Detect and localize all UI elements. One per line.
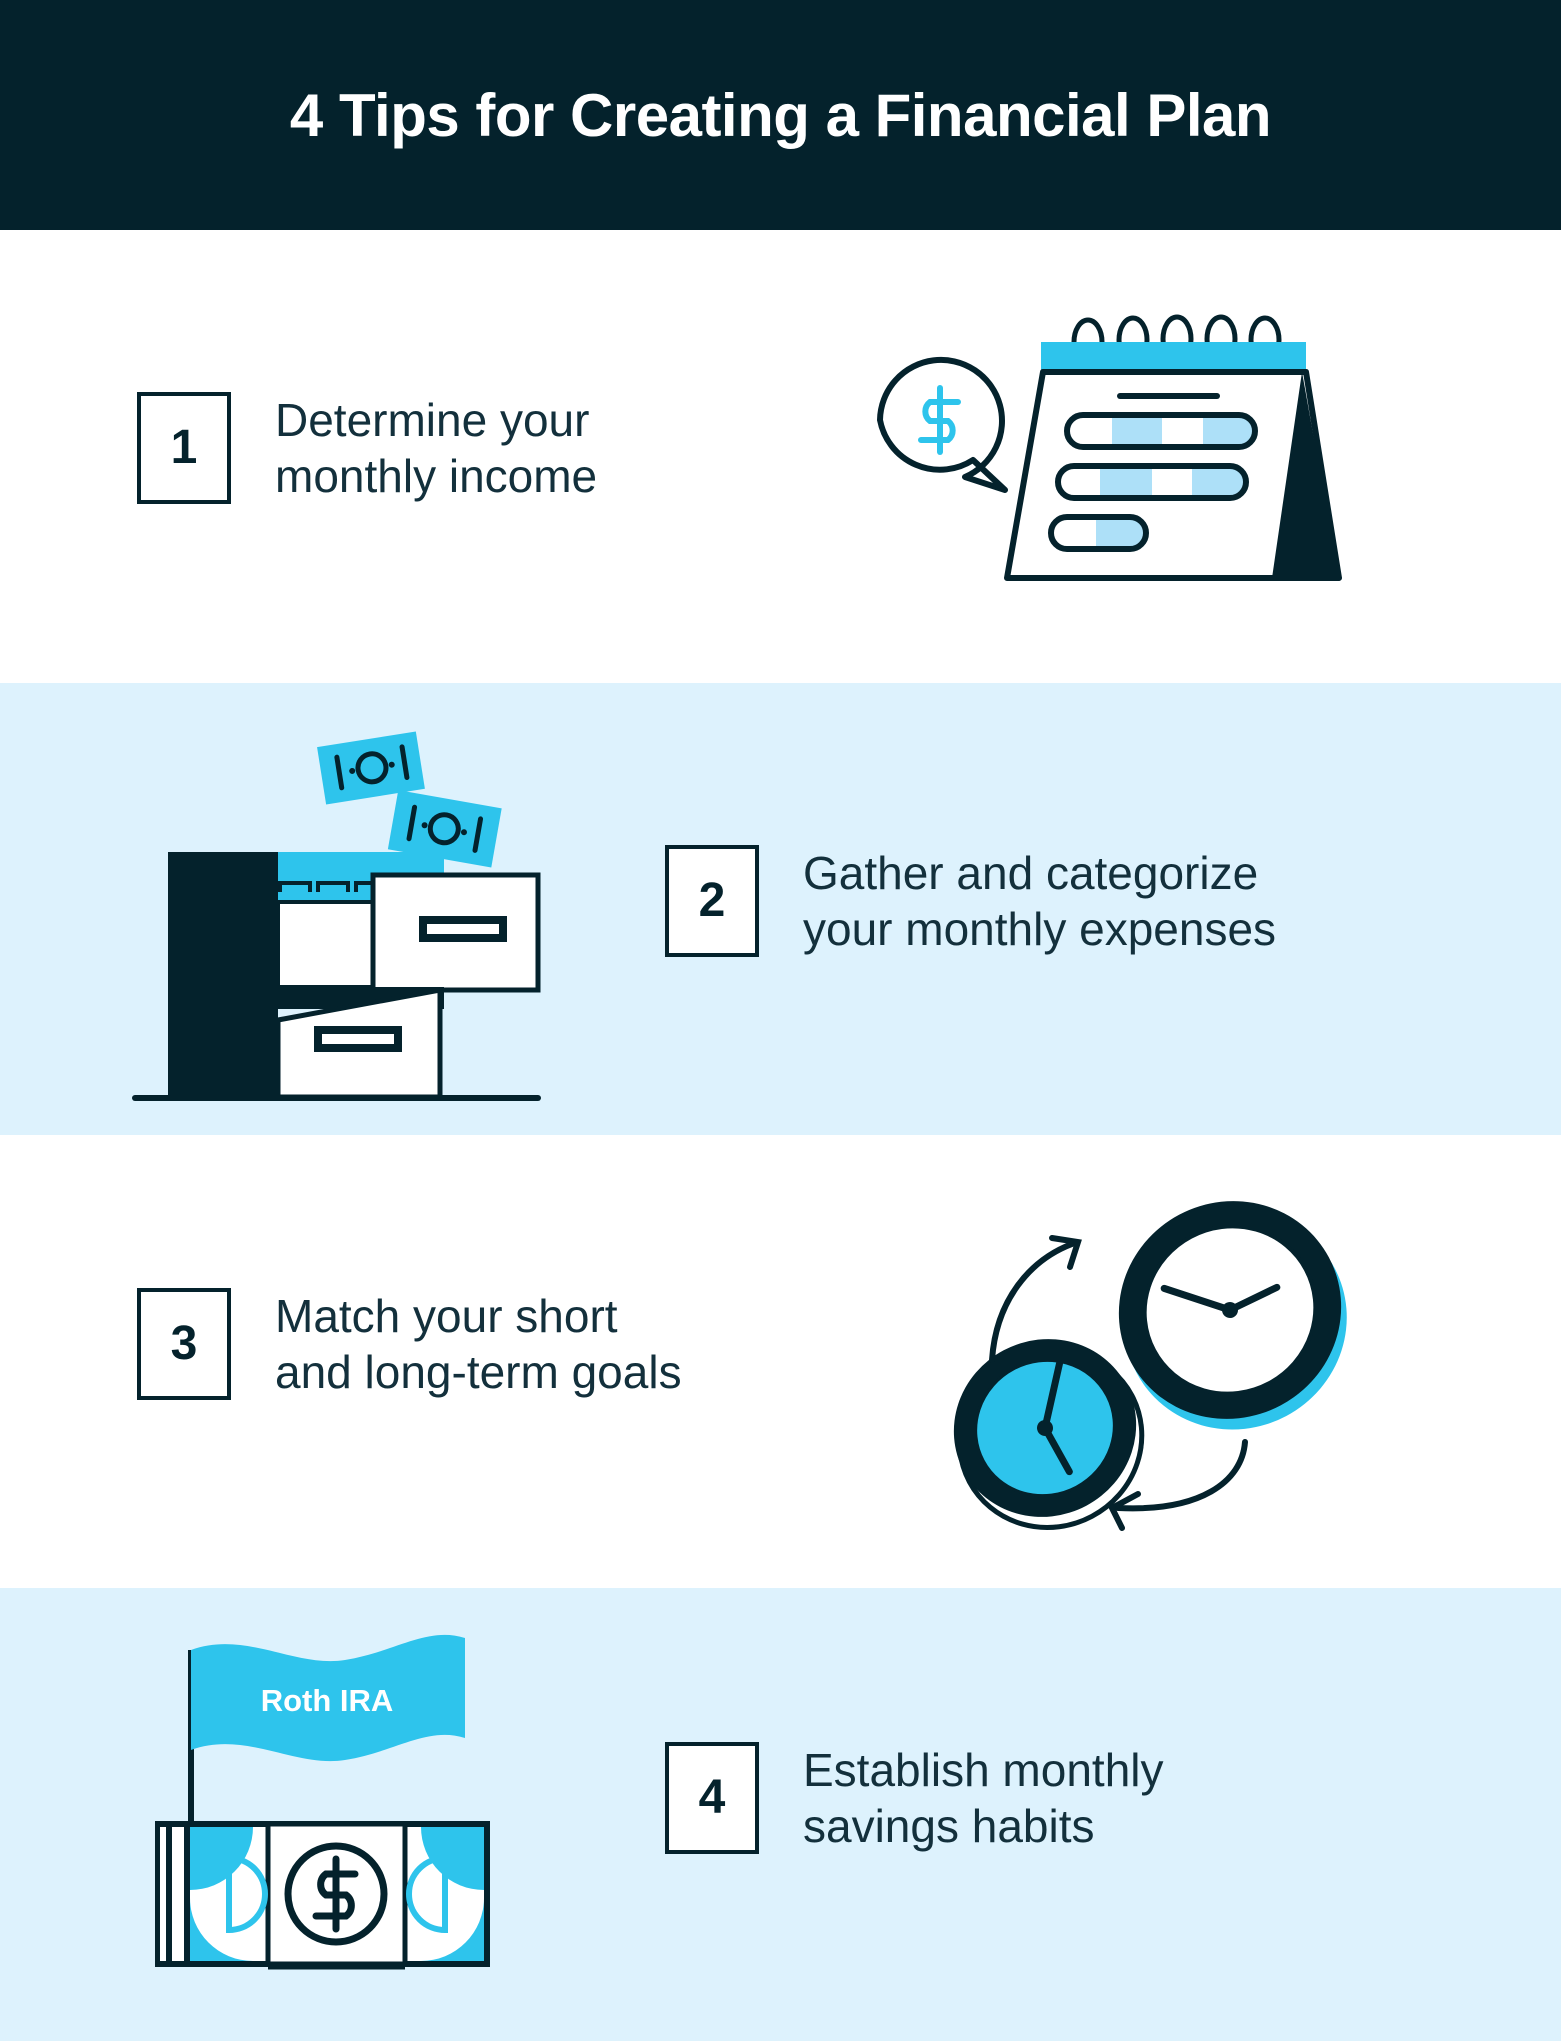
step-1-number-box: 1: [137, 392, 231, 504]
step-4-text: Establish monthly savings habits: [803, 1742, 1164, 1854]
step-2-text: Gather and categorize your monthly expen…: [803, 845, 1276, 957]
step-3-block: 3 Match your short and long-term goals: [137, 1288, 682, 1400]
step-1-block: 1 Determine your monthly income: [137, 392, 597, 504]
roth-ira-savings-illustration: Roth IRA: [155, 1620, 575, 2020]
calendar-row-1: [1067, 415, 1255, 447]
step-1-text: Determine your monthly income: [275, 392, 597, 504]
banknote-front: [187, 1824, 487, 1964]
filing-cabinet-illustration: [130, 720, 560, 1120]
step-3-number: 3: [171, 1320, 198, 1368]
step-2-number-box: 2: [665, 845, 759, 957]
step-1-number: 1: [171, 424, 198, 472]
dollar-speech-bubble-icon: [880, 360, 1005, 490]
step-4-number-box: 4: [665, 1742, 759, 1854]
step-4-number: 4: [699, 1774, 726, 1822]
cabinet-left-panel: [168, 852, 278, 1097]
step-2-number: 2: [699, 877, 726, 925]
step-4-block: 4 Establish monthly savings habits: [665, 1742, 1164, 1854]
calendar-top-band: [1041, 342, 1306, 372]
step-3-number-box: 3: [137, 1288, 231, 1400]
header-banner: 4 Tips for Creating a Financial Plan: [0, 0, 1561, 230]
calendar-row-2: [1058, 466, 1246, 498]
infographic-page: 4 Tips for Creating a Financial Plan 1 D…: [0, 0, 1561, 2041]
step-3-text: Match your short and long-term goals: [275, 1288, 682, 1400]
clocks-illustration: [900, 1160, 1380, 1560]
page-title: 4 Tips for Creating a Financial Plan: [290, 81, 1271, 150]
calendar-row-3: [1051, 517, 1146, 549]
flag-label: Roth IRA: [261, 1683, 394, 1718]
cabinet-drawer-upper: [373, 875, 538, 990]
calendar-illustration: [855, 290, 1355, 610]
step-2-block: 2 Gather and categorize your monthly exp…: [665, 845, 1276, 957]
